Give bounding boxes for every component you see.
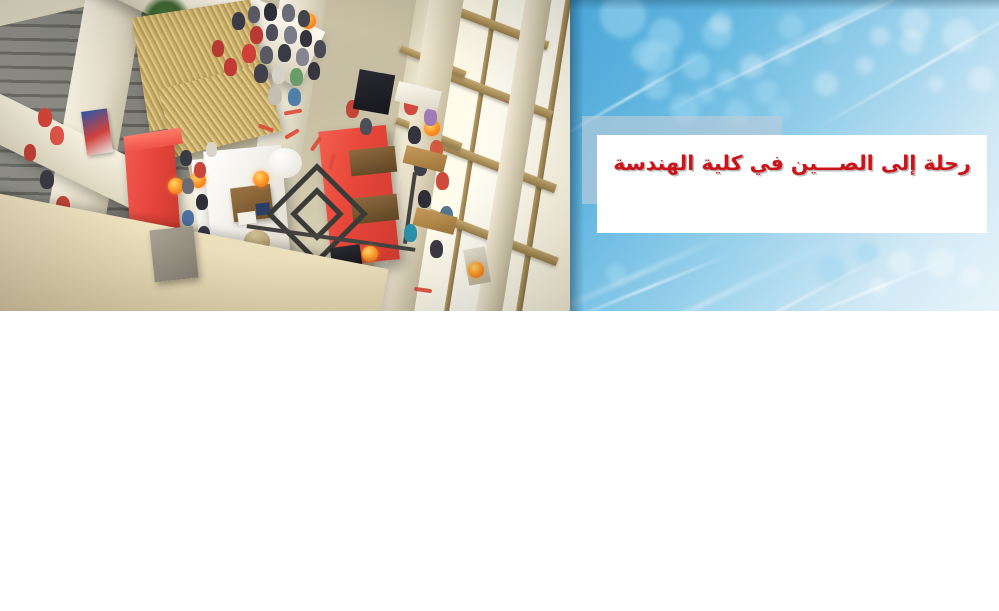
bokeh-circle: [754, 80, 778, 104]
atrium-photo: [0, 0, 570, 311]
panel-top-shade: [570, 0, 999, 10]
bokeh-circle: [870, 26, 890, 46]
person: [24, 144, 36, 161]
person: [206, 142, 217, 157]
person: [288, 88, 301, 106]
bokeh-circle: [888, 250, 914, 276]
person: [436, 172, 449, 190]
slide-title: رحلة إلى الصـــين في كلية الهندسة: [597, 140, 987, 186]
person: [38, 108, 52, 127]
bokeh-circle: [928, 76, 944, 92]
person: [418, 190, 431, 208]
person: [194, 162, 206, 178]
person: [282, 4, 295, 22]
person: [404, 224, 417, 242]
bokeh-circle: [710, 12, 732, 34]
presentation-slide: رحلة إلى الصـــين في كلية الهندسة: [0, 0, 999, 611]
person: [360, 118, 372, 135]
person: [298, 10, 310, 27]
bokeh-circle: [960, 266, 982, 288]
person: [260, 46, 273, 64]
table-paper: [237, 211, 256, 225]
person: [284, 26, 297, 44]
person: [182, 210, 194, 226]
person: [180, 150, 192, 166]
bokeh-circle: [856, 56, 874, 74]
person: [242, 44, 256, 63]
grey-block: [149, 226, 198, 282]
bokeh-circle: [968, 66, 994, 92]
person: [212, 40, 224, 57]
bokeh-circle: [816, 254, 846, 284]
bokeh-circle: [814, 72, 838, 96]
person: [40, 170, 54, 189]
person: [232, 12, 245, 30]
person: [50, 126, 64, 145]
person: [266, 24, 278, 41]
person: [290, 68, 303, 86]
person: [182, 178, 194, 194]
person: [264, 3, 277, 21]
person: [408, 126, 421, 144]
person: [314, 40, 326, 58]
letter-e-notch: [349, 146, 397, 177]
page-white-area: [0, 311, 999, 611]
person: [268, 86, 282, 105]
person: [296, 48, 309, 66]
paper-lantern: [253, 171, 269, 187]
white-tent-bulge: [268, 148, 302, 178]
person: [250, 26, 263, 44]
person: [308, 62, 320, 80]
paper-lantern: [362, 246, 378, 262]
person: [430, 240, 443, 258]
person: [300, 30, 312, 47]
person: [248, 6, 260, 23]
bokeh-circle: [778, 14, 804, 40]
bokeh-circle: [640, 40, 674, 74]
dark-banner: [353, 69, 395, 115]
person: [278, 44, 291, 62]
paper-lantern: [468, 262, 484, 278]
person: [224, 58, 237, 76]
person: [196, 194, 208, 210]
bokeh-circle: [900, 30, 924, 54]
person: [254, 64, 268, 83]
person: [272, 66, 285, 84]
